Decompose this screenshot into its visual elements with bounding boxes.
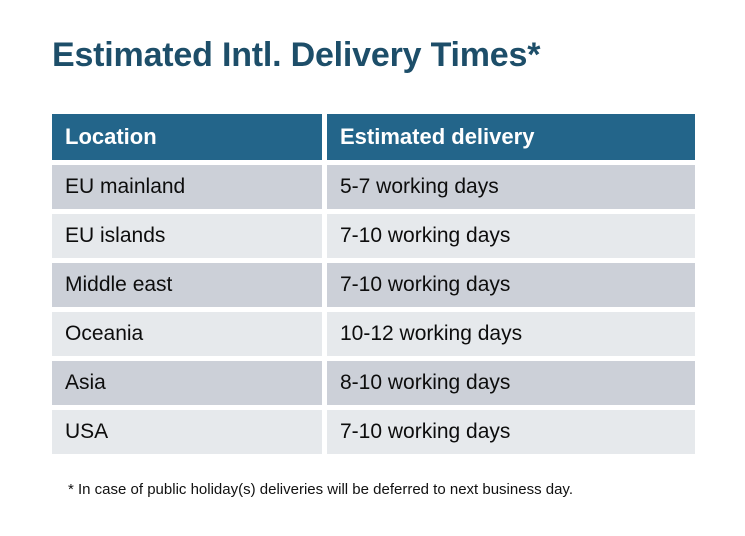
table-header: Location Estimated delivery [52,114,695,160]
cell-delivery: 8-10 working days [327,361,695,405]
column-header-location: Location [52,114,322,160]
footnote-public-holiday: * In case of public holiday(s) deliverie… [68,481,573,498]
cell-delivery: 7-10 working days [327,214,695,258]
table-body: EU mainland 5-7 working days EU islands … [52,165,695,454]
cell-delivery: 7-10 working days [327,263,695,307]
cell-location: USA [52,410,322,454]
table-row: USA 7-10 working days [52,410,695,454]
estimated-delivery-times-table: Location Estimated delivery EU mainland … [47,109,700,459]
table-row: EU islands 7-10 working days [52,214,695,258]
table-row: Asia 8-10 working days [52,361,695,405]
cell-location: Oceania [52,312,322,356]
delivery-times-page: Estimated Intl. Delivery Times* Location… [0,0,745,536]
cell-location: EU mainland [52,165,322,209]
cell-delivery: 7-10 working days [327,410,695,454]
table-header-row: Location Estimated delivery [52,114,695,160]
cell-location: Asia [52,361,322,405]
cell-location: Middle east [52,263,322,307]
cell-location: EU islands [52,214,322,258]
table-row: Oceania 10-12 working days [52,312,695,356]
cell-delivery: 10-12 working days [327,312,695,356]
cell-delivery: 5-7 working days [327,165,695,209]
table-row: Middle east 7-10 working days [52,263,695,307]
column-header-estimated-delivery: Estimated delivery [327,114,695,160]
page-title: Estimated Intl. Delivery Times* [52,36,540,75]
table-row: EU mainland 5-7 working days [52,165,695,209]
